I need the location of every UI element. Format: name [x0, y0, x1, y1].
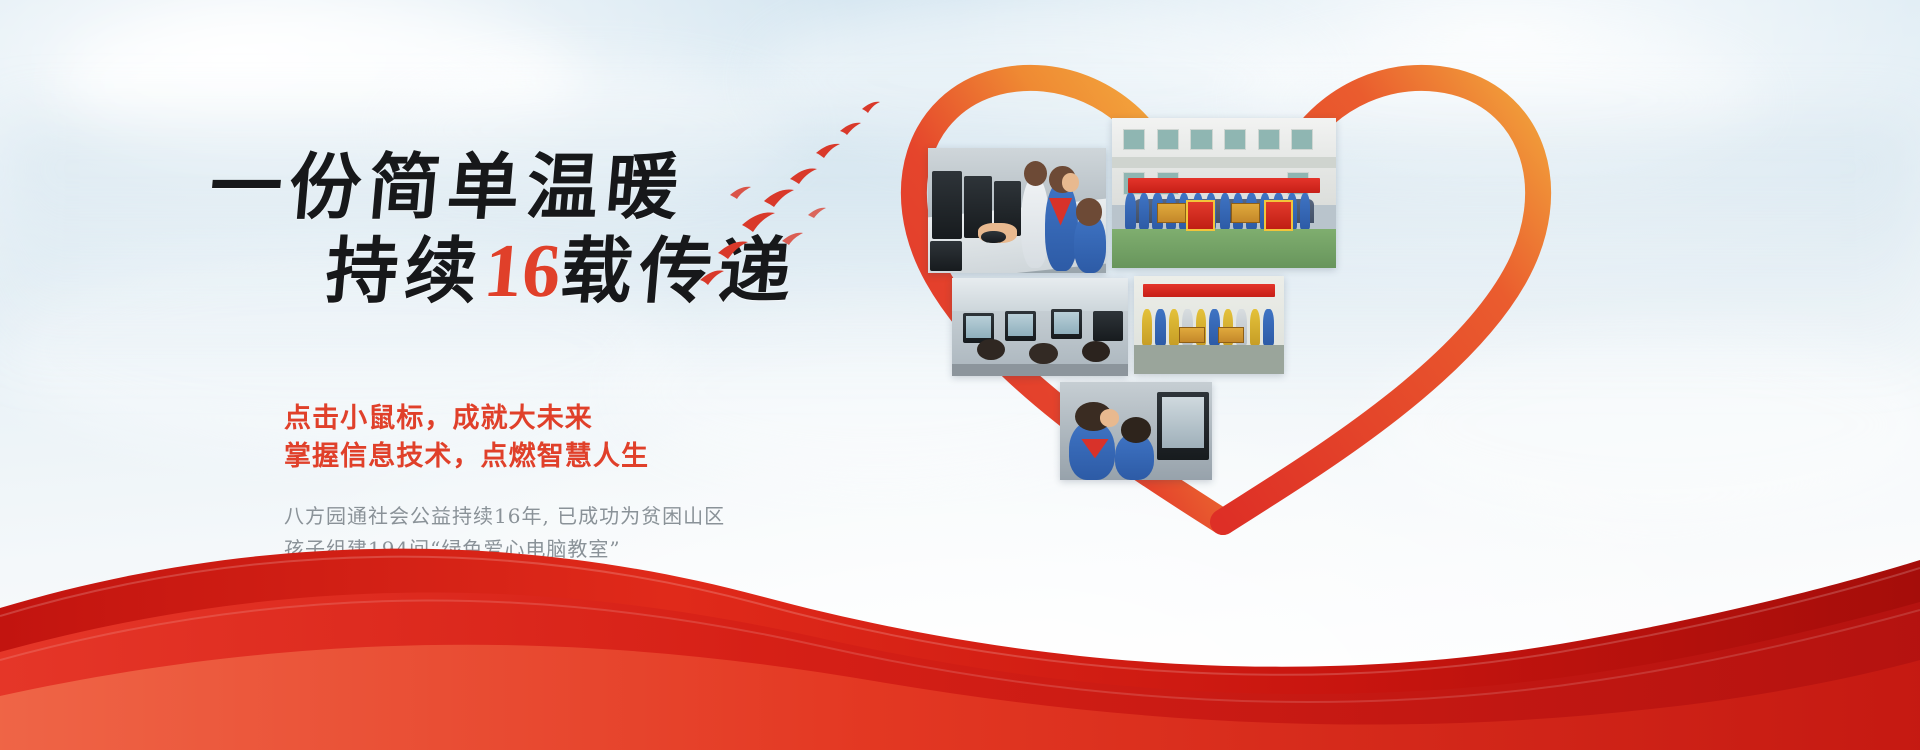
- headline-years-number: 16: [481, 229, 564, 313]
- photo-students-using-mice: [928, 148, 1106, 273]
- red-ribbon-wave: [0, 420, 1920, 750]
- photo-award-ceremony: [1134, 276, 1284, 374]
- promo-banner: 一份简单温暖 持续16载传递 点击小鼠标，成就大未来 掌握信息技术，点燃智慧人生: [0, 0, 1920, 750]
- photo-computer-classroom: [952, 278, 1128, 376]
- headline-line-2-prefix: 持续: [322, 228, 488, 313]
- photo-donation-ceremony: [1112, 118, 1336, 268]
